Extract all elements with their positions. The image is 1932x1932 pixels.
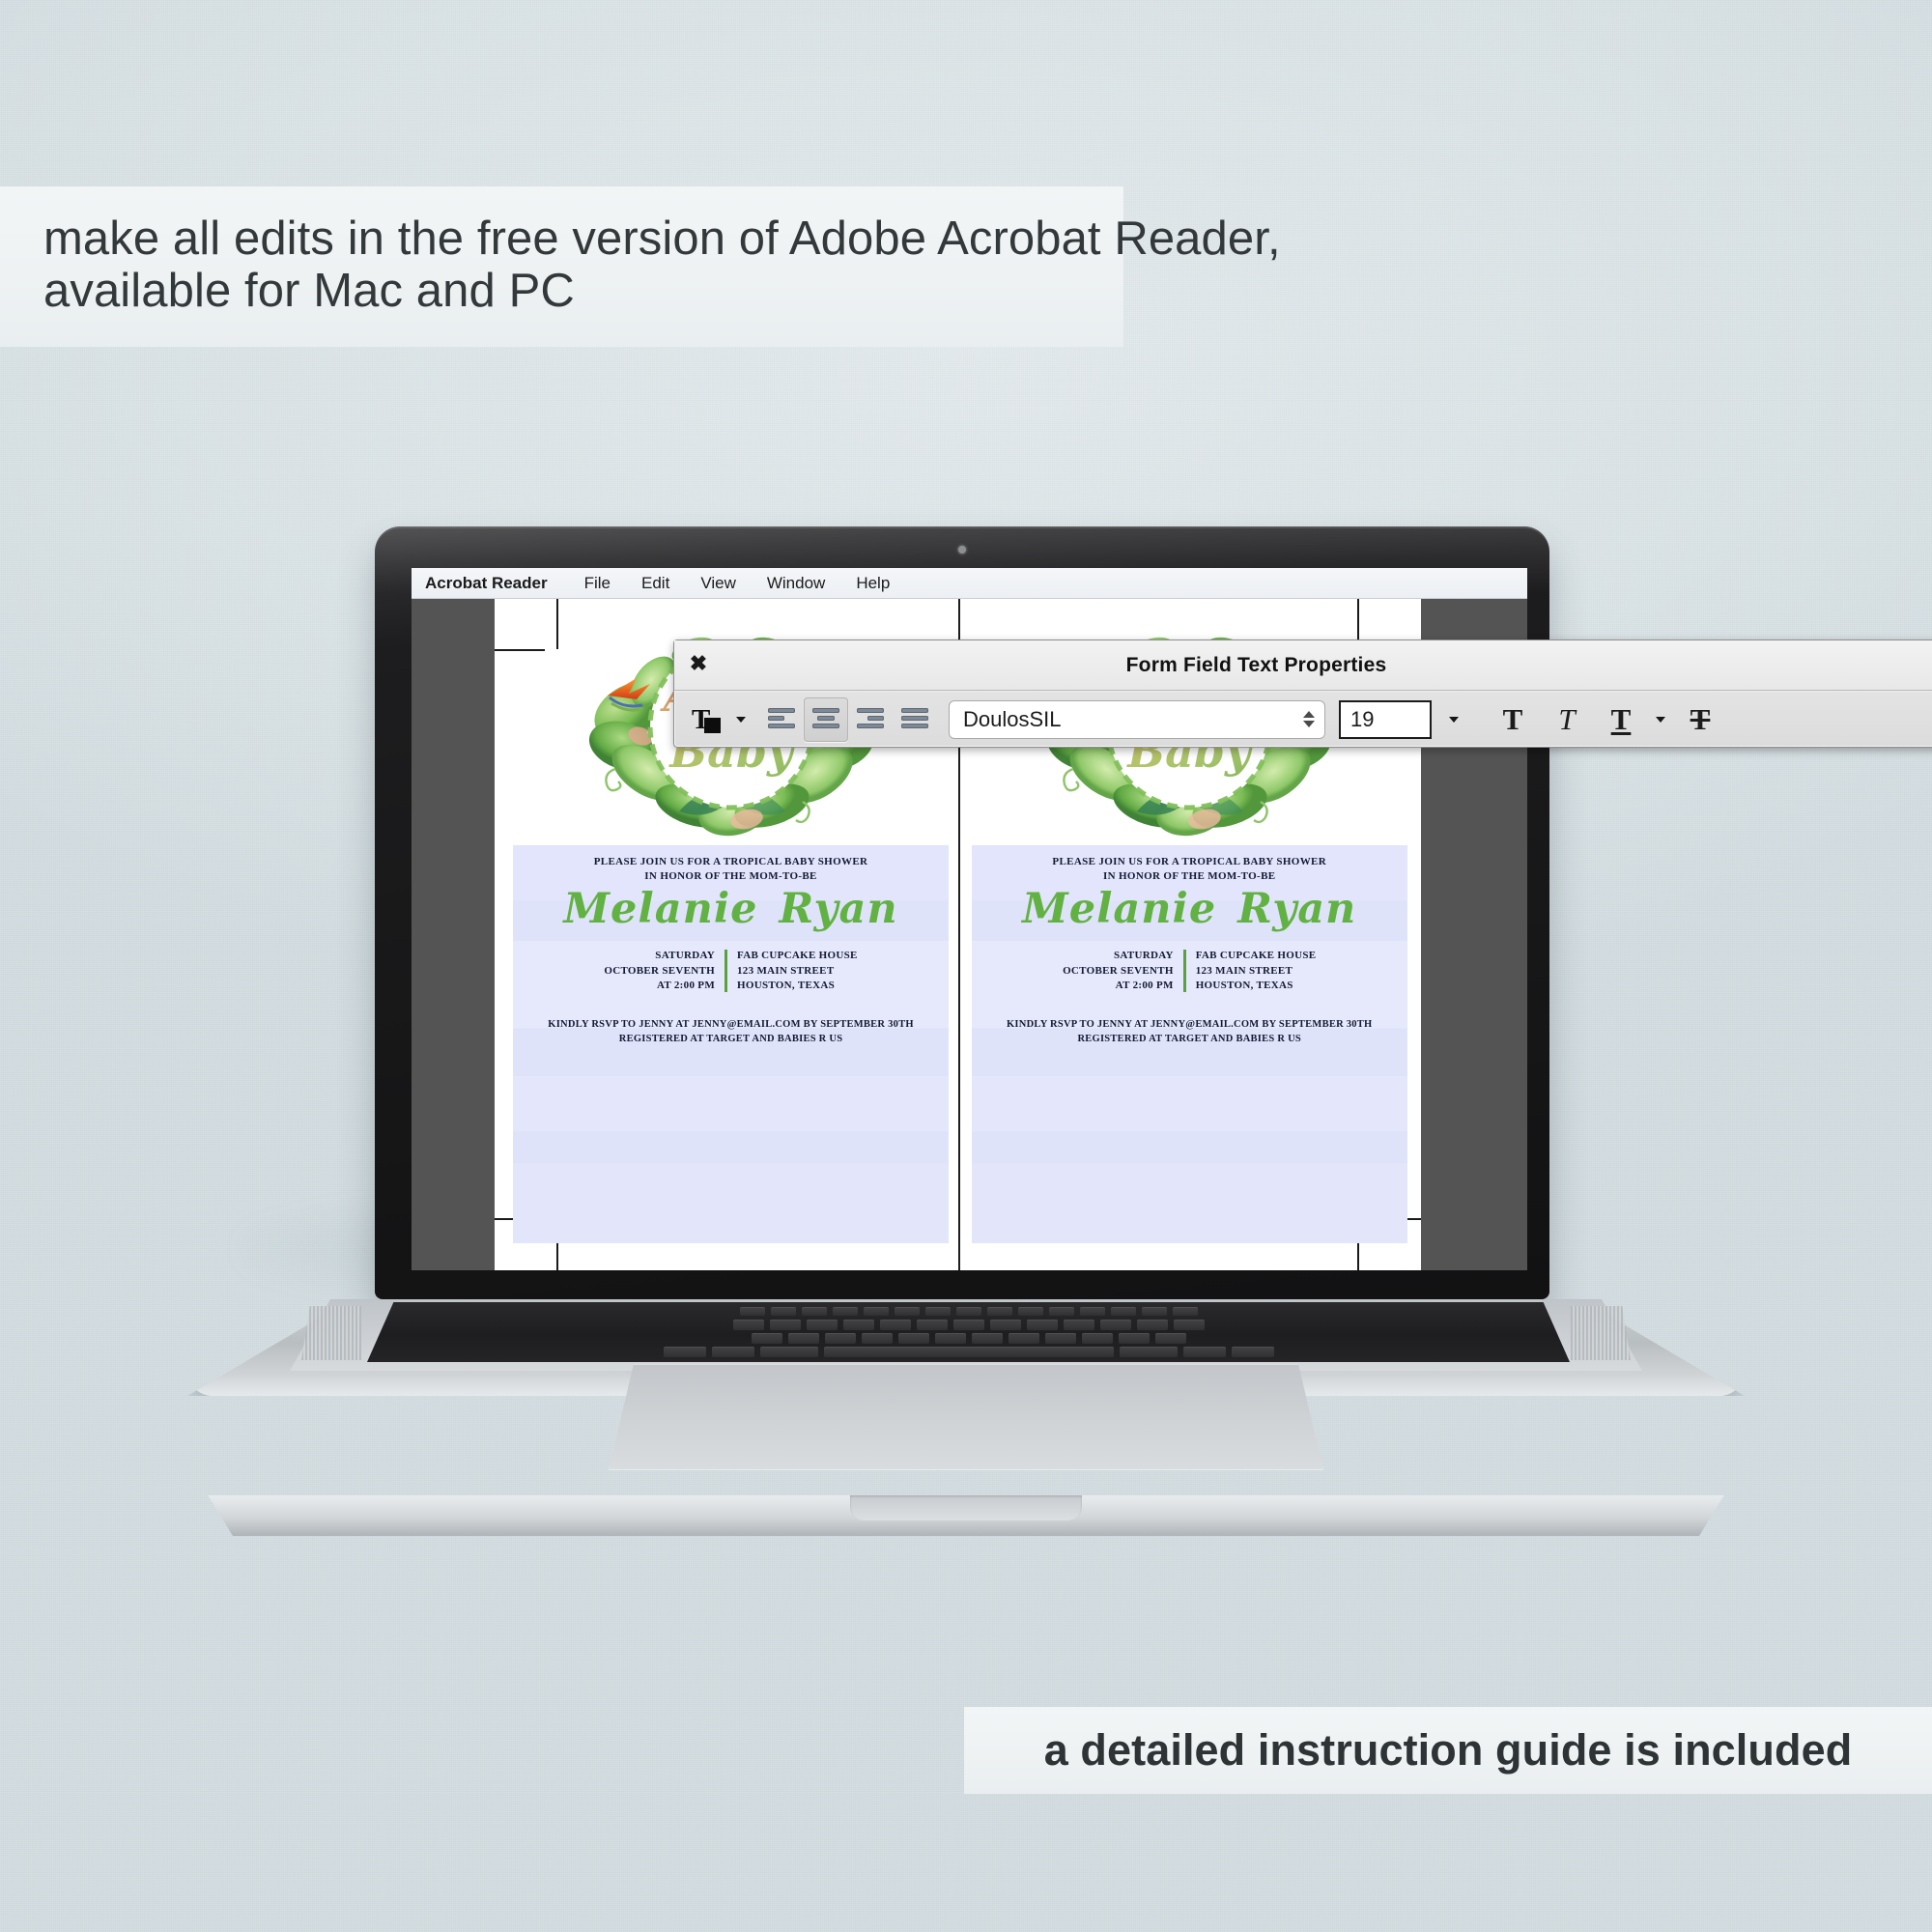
when-line-1: SATURDAY	[1063, 949, 1174, 964]
where-line-2: 123 MAIN STREET	[737, 964, 858, 980]
chevron-down-icon	[736, 717, 746, 723]
when-line-2: OCTOBER SEVENTH	[604, 964, 715, 980]
invitation-text-block: PLEASE JOIN US FOR A TROPICAL BABY SHOWE…	[513, 845, 949, 1243]
invitation-when: SATURDAY OCTOBER SEVENTH AT 2:00 PM	[1063, 949, 1183, 994]
chevron-down-icon	[1656, 717, 1665, 723]
rsvp-line-1: KINDLY RSVP TO JENNY AT JENNY@EMAIL.COM …	[513, 1017, 949, 1033]
invitation-line-1: PLEASE JOIN US FOR A TROPICAL BABY SHOWE…	[972, 855, 1407, 869]
footer-banner: a detailed instruction guide is included	[964, 1707, 1932, 1794]
where-line-1: FAB CUPCAKE HOUSE	[737, 949, 858, 964]
align-left-icon	[768, 708, 795, 731]
speaker-grille-left	[301, 1306, 361, 1360]
invitation-last-name: Ryan	[1237, 885, 1356, 933]
font-size-input[interactable]: 19	[1339, 700, 1432, 739]
invitation-line-2: IN HONOR OF THE MOM-TO-BE	[972, 869, 1407, 884]
toolbar-titlebar: ✖ Form Field Text Properties	[674, 640, 1932, 691]
font-family-value: DoulosSIL	[963, 707, 1303, 732]
text-tool-icon: T	[692, 705, 721, 734]
invitation-details: SATURDAY OCTOBER SEVENTH AT 2:00 PM FAB …	[513, 949, 949, 994]
invitation-last-name: Ryan	[780, 885, 898, 933]
when-line-1: SATURDAY	[604, 949, 715, 964]
where-line-2: 123 MAIN STREET	[1196, 964, 1317, 980]
italic-icon: T	[1558, 704, 1575, 734]
webcam-icon	[958, 546, 966, 554]
form-field-text-properties-toolbar[interactable]: ✖ Form Field Text Properties T Dou	[673, 639, 1932, 748]
rsvp-line-1: KINDLY RSVP TO JENNY AT JENNY@EMAIL.COM …	[972, 1017, 1407, 1033]
when-line-3: AT 2:00 PM	[604, 979, 715, 994]
underline-dropdown[interactable]	[1648, 697, 1673, 742]
underline-button[interactable]: T	[1594, 698, 1648, 741]
invitation-rsvp: KINDLY RSVP TO JENNY AT JENNY@EMAIL.COM …	[513, 1017, 949, 1048]
align-left-button[interactable]	[759, 697, 804, 742]
menu-item-view[interactable]: View	[685, 574, 752, 593]
strikethrough-button[interactable]: T	[1673, 698, 1727, 741]
rsvp-line-2: REGISTERED AT TARGET AND BABIES R US	[513, 1032, 949, 1047]
where-line-1: FAB CUPCAKE HOUSE	[1196, 949, 1317, 964]
strikethrough-icon: T	[1690, 704, 1711, 734]
macbook-mockup: Acrobat Reader File Edit View Window Hel…	[0, 0, 1932, 1932]
menu-item-help[interactable]: Help	[840, 574, 905, 593]
speaker-grille-right	[1571, 1306, 1631, 1360]
menu-item-file[interactable]: File	[569, 574, 626, 593]
invitation-names[interactable]: MelanieRyan	[513, 889, 949, 931]
menubar: Acrobat Reader File Edit View Window Hel…	[412, 568, 1527, 599]
invitation-text-block: PLEASE JOIN US FOR A TROPICAL BABY SHOWE…	[972, 845, 1407, 1243]
invitation-line-2: IN HONOR OF THE MOM-TO-BE	[513, 869, 949, 884]
where-line-3: HOUSTON, TEXAS	[1196, 979, 1317, 994]
text-tool-button[interactable]: T	[684, 697, 728, 742]
font-family-select[interactable]: DoulosSIL	[949, 700, 1325, 739]
rsvp-line-2: REGISTERED AT TARGET AND BABIES R US	[972, 1032, 1407, 1047]
document-left-margin	[412, 599, 495, 1270]
underline-icon: T	[1611, 704, 1632, 734]
footer-text: a detailed instruction guide is included	[1044, 1725, 1853, 1776]
font-select-stepper-icon	[1303, 711, 1315, 727]
text-tool-dropdown[interactable]	[728, 697, 753, 742]
chevron-down-icon	[1449, 717, 1459, 723]
menu-item-edit[interactable]: Edit	[626, 574, 685, 593]
where-line-3: HOUSTON, TEXAS	[737, 979, 858, 994]
invitation-names[interactable]: MelanieRyan	[972, 889, 1407, 931]
invitation-where: FAB CUPCAKE HOUSE 123 MAIN STREET HOUSTO…	[727, 949, 858, 994]
invitation-line-1: PLEASE JOIN US FOR A TROPICAL BABY SHOWE…	[513, 855, 949, 869]
italic-button[interactable]: T	[1540, 698, 1594, 741]
menu-item-window[interactable]: Window	[752, 574, 840, 593]
invitation-first-name: Melanie	[1022, 885, 1216, 933]
align-justify-button[interactable]	[893, 697, 937, 742]
bold-button[interactable]: T	[1486, 698, 1540, 741]
invitation-first-name: Melanie	[563, 885, 757, 933]
trackpad[interactable]	[609, 1364, 1323, 1470]
toolbar-title: Form Field Text Properties	[674, 654, 1838, 677]
align-right-button[interactable]	[848, 697, 893, 742]
invitation-rsvp: KINDLY RSVP TO JENNY AT JENNY@EMAIL.COM …	[972, 1017, 1407, 1048]
invitation-where: FAB CUPCAKE HOUSE 123 MAIN STREET HOUSTO…	[1186, 949, 1317, 994]
bold-icon: T	[1503, 704, 1523, 734]
invitation-details: SATURDAY OCTOBER SEVENTH AT 2:00 PM FAB …	[972, 949, 1407, 994]
align-right-icon	[857, 708, 884, 731]
invitation-when: SATURDAY OCTOBER SEVENTH AT 2:00 PM	[604, 949, 724, 994]
when-line-3: AT 2:00 PM	[1063, 979, 1174, 994]
align-justify-icon	[901, 708, 928, 731]
when-line-2: OCTOBER SEVENTH	[1063, 964, 1174, 980]
keyboard[interactable]	[367, 1302, 1570, 1362]
toolbar-controls: T DoulosSIL 19	[674, 691, 1932, 748]
menu-item-acrobat-reader[interactable]: Acrobat Reader	[425, 574, 569, 593]
align-center-icon	[812, 708, 839, 731]
font-size-dropdown[interactable]	[1439, 697, 1468, 742]
align-center-button[interactable]	[804, 697, 848, 742]
laptop-front-notch	[850, 1495, 1082, 1520]
